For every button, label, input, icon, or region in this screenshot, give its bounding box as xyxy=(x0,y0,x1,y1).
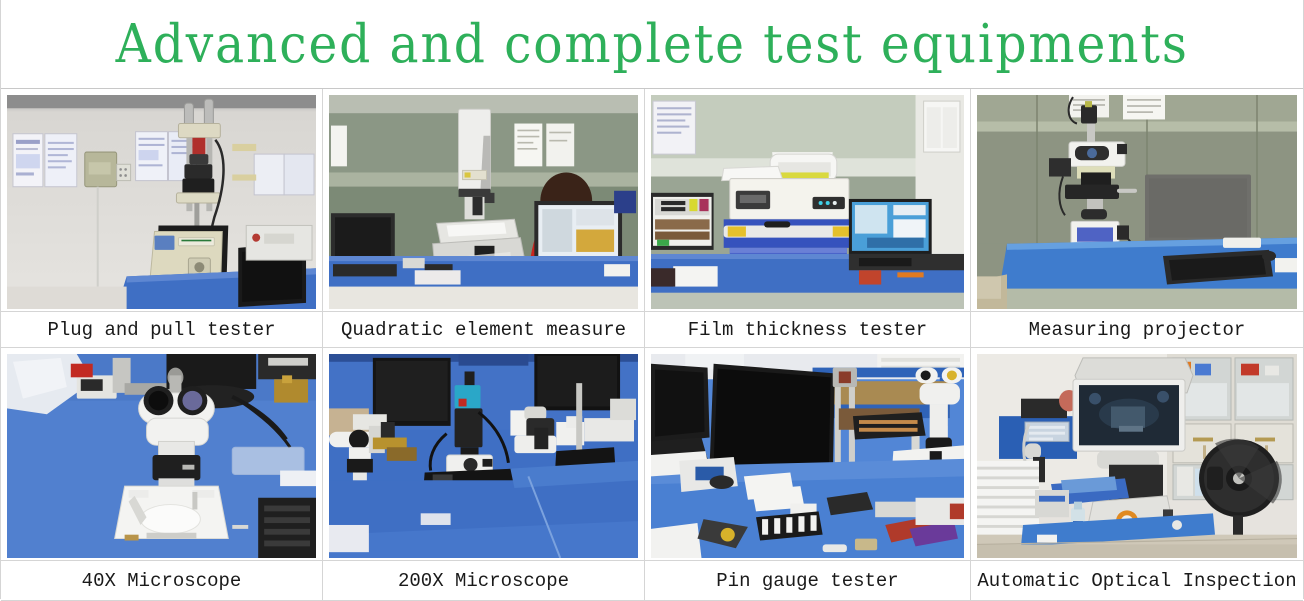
equipment-photo-cell-5[interactable] xyxy=(1,348,323,561)
film-thickness-tester-photo xyxy=(651,95,964,309)
microscope-200x-photo xyxy=(329,354,638,558)
equipment-caption-text: Quadratic element measure xyxy=(341,319,626,341)
equipment-caption-1: Plug and pull tester xyxy=(1,312,323,348)
microscope-40x-photo xyxy=(7,354,316,558)
equipment-photo-cell-7[interactable] xyxy=(645,348,971,561)
equipment-caption-text: Film thickness tester xyxy=(688,319,927,341)
equipment-caption-5: 40X Microscope xyxy=(1,561,323,601)
equipment-photo-cell-3[interactable] xyxy=(645,89,971,312)
equipment-photo-cell-2[interactable] xyxy=(323,89,645,312)
equipment-caption-text: 200X Microscope xyxy=(398,570,569,592)
equipment-photo-cell-8[interactable] xyxy=(971,348,1303,561)
quadratic-element-measure-photo xyxy=(329,95,638,309)
equipment-caption-6: 200X Microscope xyxy=(323,561,645,601)
equipment-gallery-page: Advanced and complete test equipments xyxy=(0,0,1304,599)
equipment-photo-cell-6[interactable] xyxy=(323,348,645,561)
equipment-caption-text: Automatic Optical Inspection xyxy=(977,570,1296,592)
equipment-caption-4: Measuring projector xyxy=(971,312,1303,348)
equipment-caption-2: Quadratic element measure xyxy=(323,312,645,348)
equipment-grid: Plug and pull tester Quadratic element m… xyxy=(1,89,1303,601)
equipment-caption-text: Measuring projector xyxy=(1029,319,1246,341)
page-title-bar: Advanced and complete test equipments xyxy=(1,0,1303,89)
equipment-caption-3: Film thickness tester xyxy=(645,312,971,348)
measuring-projector-photo xyxy=(977,95,1297,309)
automatic-optical-inspection-photo xyxy=(977,354,1297,558)
plug-pull-tester-photo xyxy=(7,95,316,309)
equipment-photo-cell-1[interactable] xyxy=(1,89,323,312)
equipment-photo-cell-4[interactable] xyxy=(971,89,1303,312)
equipment-caption-7: Pin gauge tester xyxy=(645,561,971,601)
pin-gauge-tester-photo xyxy=(651,354,964,558)
equipment-caption-text: Pin gauge tester xyxy=(716,570,898,592)
equipment-caption-text: 40X Microscope xyxy=(82,570,242,592)
page-title: Advanced and complete test equipments xyxy=(115,18,1188,71)
equipment-caption-text: Plug and pull tester xyxy=(47,319,275,341)
equipment-caption-8: Automatic Optical Inspection xyxy=(971,561,1303,601)
